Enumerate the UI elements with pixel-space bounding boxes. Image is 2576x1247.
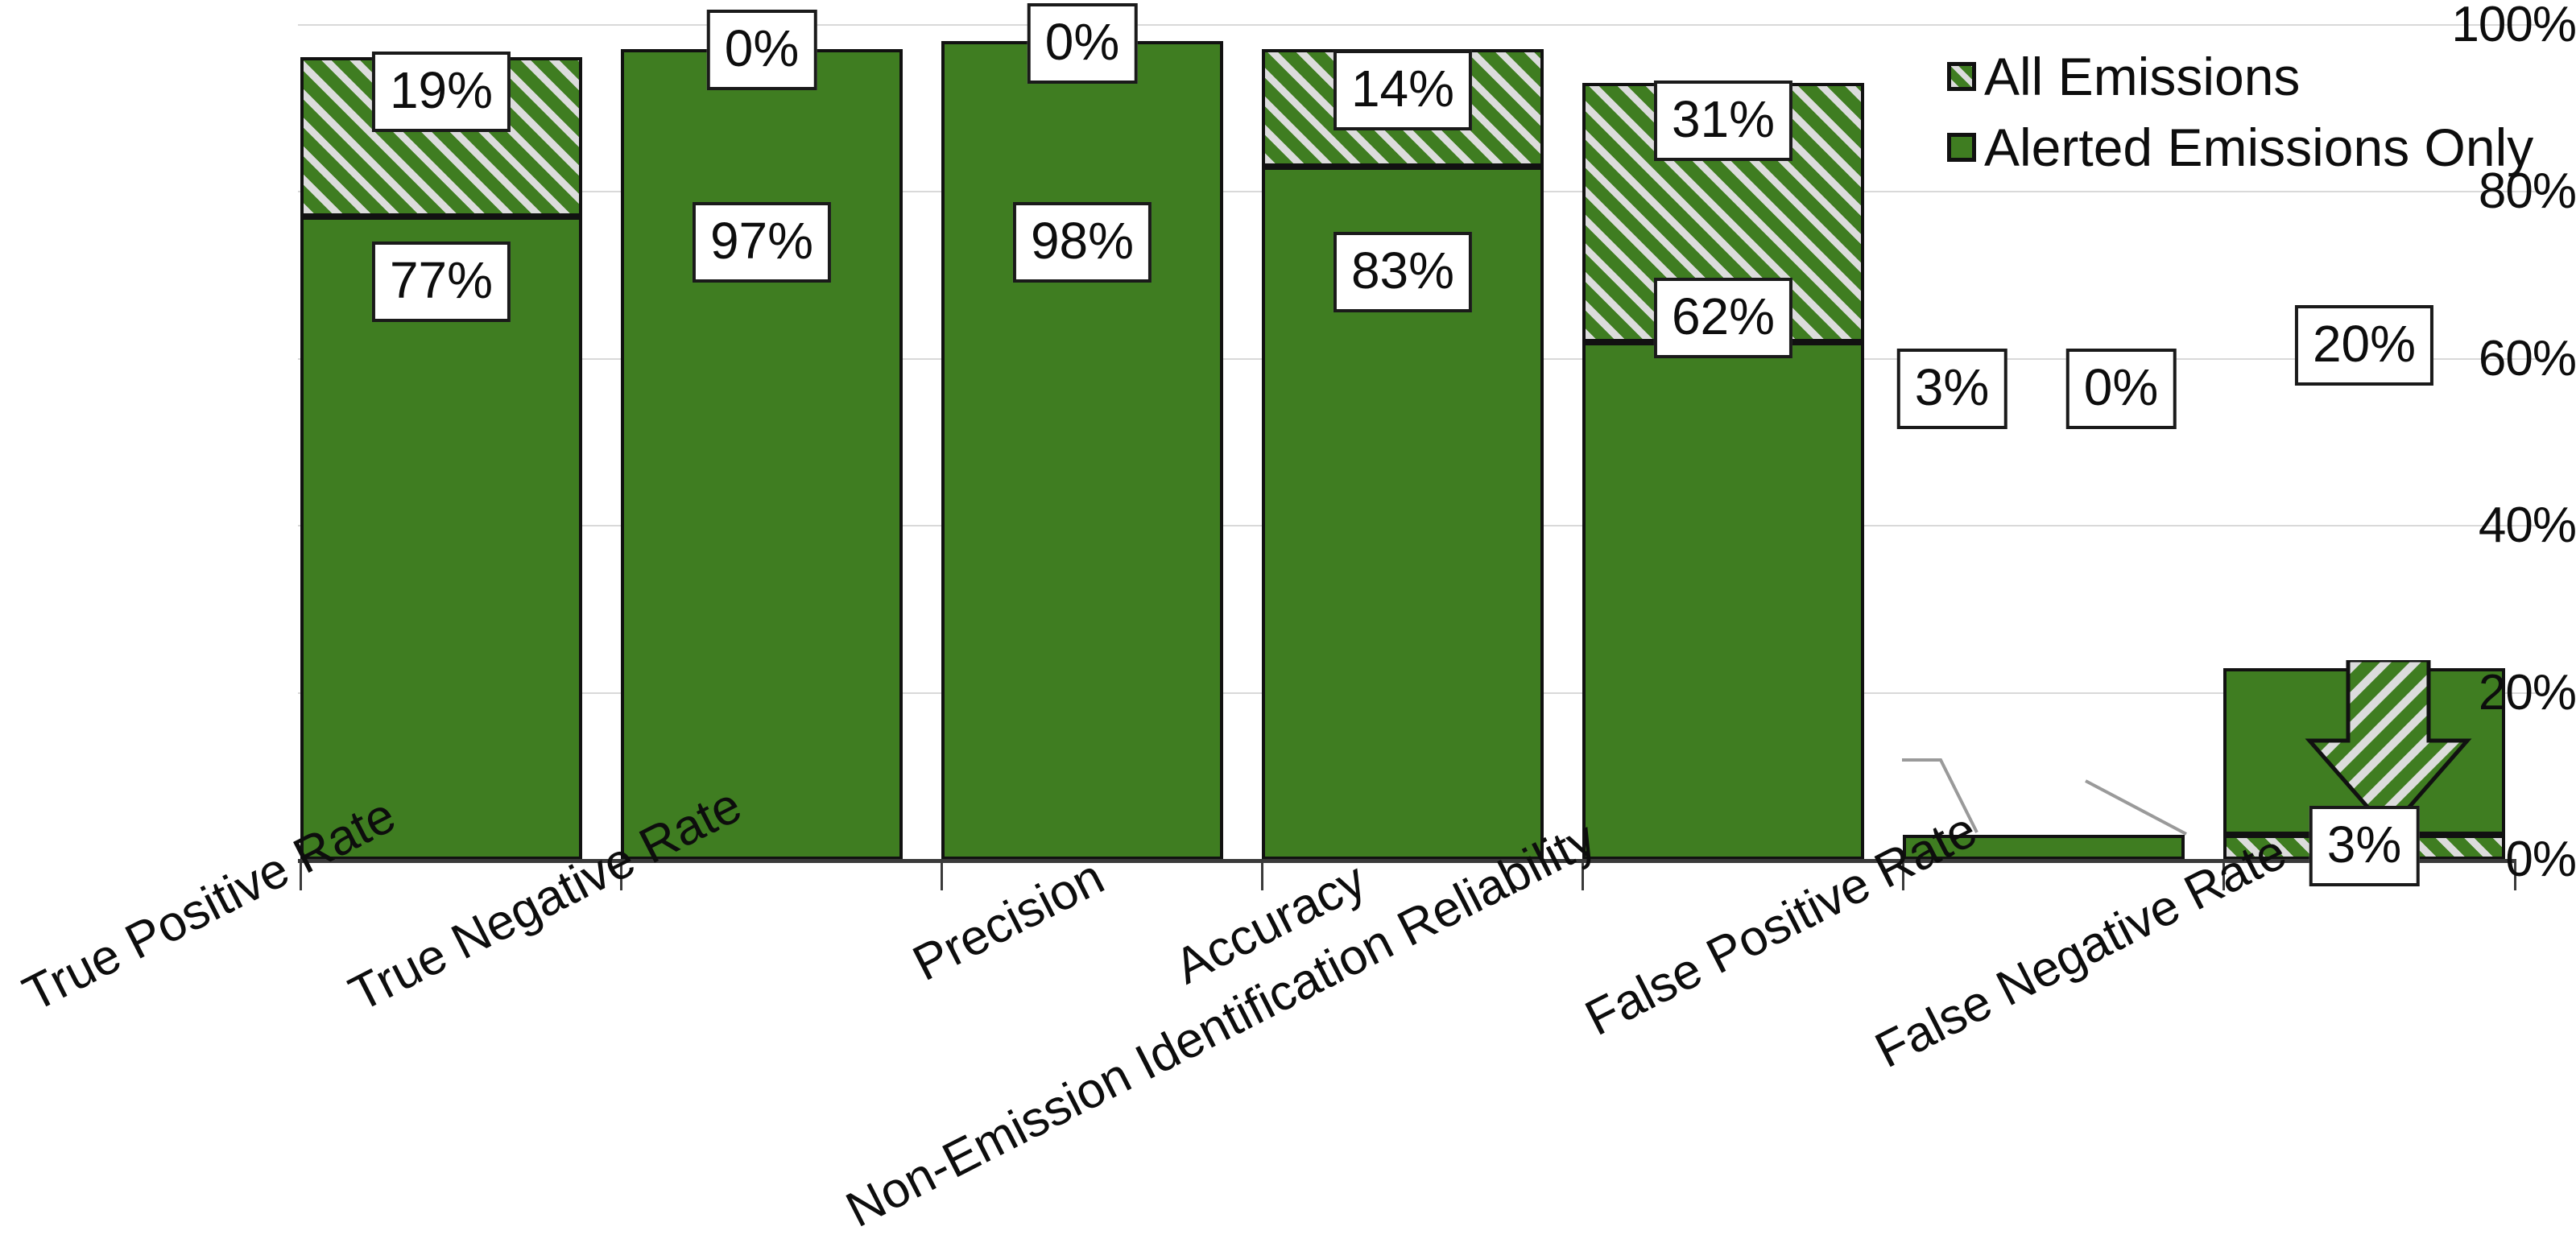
chart-legend: All Emissions Alerted Emissions Only [1947,50,2533,192]
bar-segment-alerted[interactable] [621,49,903,860]
data-label-precision-all: 0% [1028,3,1138,84]
bar-group-true-positive-rate[interactable] [300,24,582,860]
data-label-neir-alerted: 62% [1654,278,1792,358]
x-axis-tick [1261,863,1263,890]
bar-segment-alerted[interactable] [1582,342,1864,860]
data-label-tpr-all: 19% [372,52,511,132]
legend-swatch-hatched-icon [1947,62,1976,91]
y-axis-label-20: 20% [2310,668,2576,718]
chart-container: 100% 80% 60% 40% 20% 0% 19% 77% 0% 97% 0… [0,0,2576,1247]
legend-label: All Emissions [1984,50,2300,103]
y-axis-label-40: 40% [2310,501,2576,551]
legend-label: Alerted Emissions Only [1984,121,2533,174]
legend-item-all-emissions[interactable]: All Emissions [1947,50,2533,103]
x-axis-label-precision: Precision [906,852,1111,989]
legend-item-alerted-emissions-only[interactable]: Alerted Emissions Only [1947,121,2533,174]
data-label-accuracy-alerted: 83% [1333,232,1472,312]
data-label-accuracy-all: 14% [1333,50,1472,130]
x-axis-label-non-emission-identification-reliability: Non-Emission Identification Reliability [839,814,1603,1237]
data-label-tnr-alerted: 97% [693,202,831,283]
data-label-fnr-all: 3% [2309,806,2420,886]
data-label-precision-alerted: 98% [1013,202,1152,283]
bar-group-precision[interactable] [941,24,1223,860]
x-axis-label-true-positive-rate: True Positive Rate [16,791,403,1021]
data-label-fpr-alerted: 3% [1897,349,2007,429]
data-label-fpr-all: 0% [2066,349,2177,429]
y-axis-label-100: 100% [2310,0,2576,50]
data-label-tpr-alerted: 77% [372,242,511,322]
data-label-fnr-alerted: 20% [2295,305,2433,386]
legend-swatch-solid-icon [1947,133,1976,162]
bar-group-accuracy[interactable] [1262,24,1544,860]
bar-group-true-negative-rate[interactable] [621,24,903,860]
x-axis-tick [941,863,943,890]
bar-segment-alerted[interactable] [941,41,1223,860]
data-label-neir-all: 31% [1654,81,1792,161]
data-label-tnr-all: 0% [707,10,817,90]
